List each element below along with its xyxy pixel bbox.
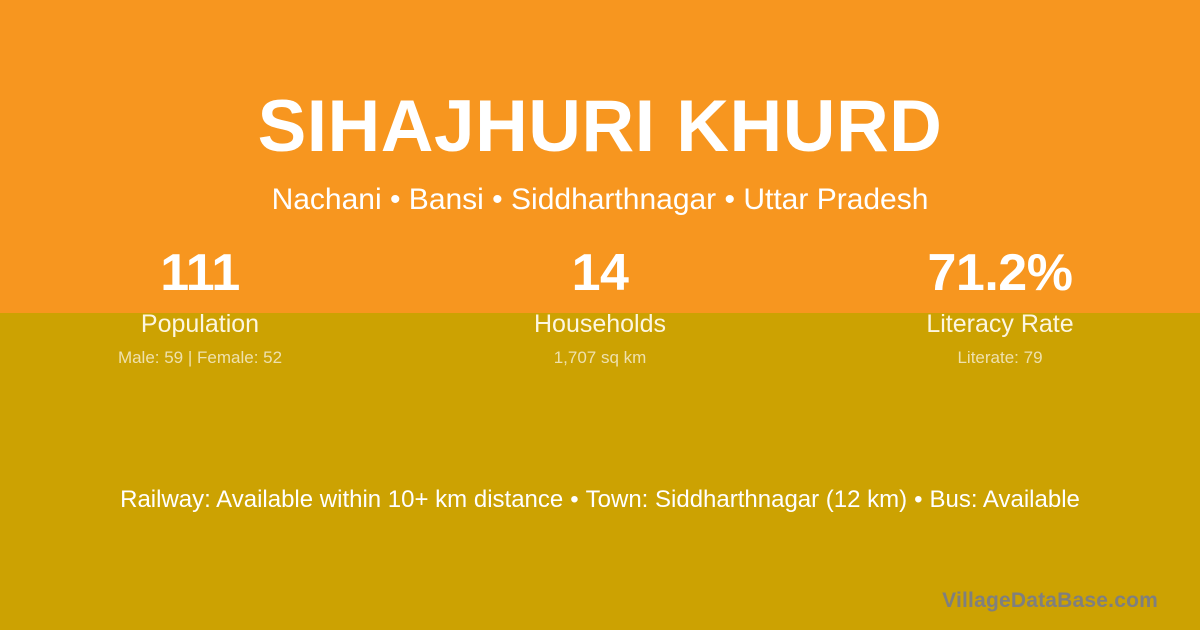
stat-label-literacy: Literacy Rate [800, 310, 1200, 338]
stat-value-population: 111 [0, 245, 400, 301]
stat-card-literacy: 71.2% Literacy Rate Literate: 79 [800, 245, 1200, 368]
infra-town: Town: Siddharthnagar (12 km) [586, 486, 908, 513]
infra-bus: Bus: Available [930, 486, 1080, 513]
stat-value-households: 14 [400, 245, 800, 301]
stat-sub-households: 1,707 sq km [400, 348, 800, 368]
village-info-card: SIHAJHURI KHURD Nachani • Bansi • Siddha… [0, 0, 1200, 630]
site-watermark: VillageDataBase.com [942, 588, 1158, 614]
infra-separator-1: • [563, 486, 585, 513]
stat-label-households: Households [400, 310, 800, 338]
infra-separator-2: • [907, 486, 929, 513]
stat-value-literacy: 71.2% [800, 245, 1200, 301]
stat-label-population: Population [0, 310, 400, 338]
infra-railway: Railway: Available within 10+ km distanc… [120, 486, 563, 513]
stats-row: 111 Population Male: 59 | Female: 52 14 … [0, 245, 1200, 368]
hero-text-block: SIHAJHURI KHURD Nachani • Bansi • Siddha… [0, 0, 1200, 215]
stat-sub-literacy: Literate: 79 [800, 348, 1200, 368]
stat-card-population: 111 Population Male: 59 | Female: 52 [0, 245, 400, 368]
stat-sub-population: Male: 59 | Female: 52 [0, 348, 400, 368]
stat-card-households: 14 Households 1,707 sq km [400, 245, 800, 368]
breadcrumb: Nachani • Bansi • Siddharthnagar • Uttar… [0, 163, 1200, 215]
infrastructure-summary: Railway: Available within 10+ km distanc… [0, 485, 1200, 515]
page-title: SIHAJHURI KHURD [0, 0, 1200, 163]
